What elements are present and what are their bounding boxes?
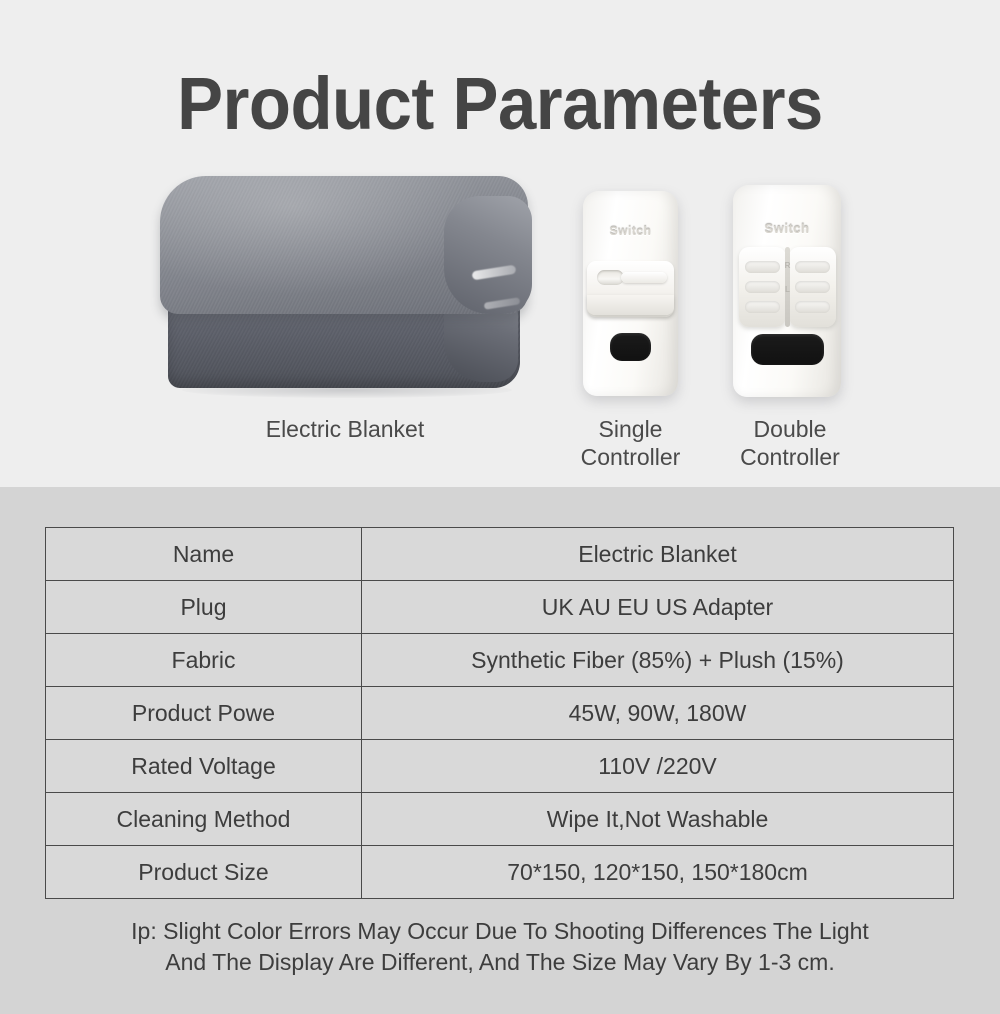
table-row: NameElectric Blanket — [46, 528, 954, 581]
spec-value-cell: Synthetic Fiber (85%) + Plush (15%) — [362, 634, 954, 687]
double-controller-display-window — [751, 334, 824, 365]
table-row: Product Size70*150, 120*150, 150*180cm — [46, 846, 954, 899]
page-title: Product Parameters — [35, 62, 965, 146]
caption-double-controller-line2: Controller — [710, 443, 870, 471]
product-parameters-page: Product Parameters Switch Switch — [0, 0, 1000, 1014]
single-controller-brand-label: Switch — [583, 224, 678, 238]
single-controller-display-window — [610, 333, 651, 361]
single-controller-ledge — [587, 295, 674, 315]
double-controller-right-bar-3 — [795, 301, 830, 313]
spec-label-cell: Cleaning Method — [46, 793, 362, 846]
table-row: Rated Voltage110V /220V — [46, 740, 954, 793]
disclaimer-note: Ip: Slight Color Errors May Occur Due To… — [14, 916, 986, 978]
spec-label-cell: Product Size — [46, 846, 362, 899]
spec-label-cell: Product Powe — [46, 687, 362, 740]
caption-single-controller-line1: Single — [553, 415, 708, 443]
double-controller-left-bar-2 — [745, 281, 780, 293]
double-controller-channel-mark-l: L — [782, 285, 793, 294]
spec-label-cell: Name — [46, 528, 362, 581]
double-controller-image: Switch R L — [733, 185, 841, 397]
spec-label-cell: Rated Voltage — [46, 740, 362, 793]
blanket-upper-fold — [160, 176, 528, 314]
disclaimer-line-1: Ip: Slight Color Errors May Occur Due To… — [14, 916, 986, 947]
spec-label-cell: Fabric — [46, 634, 362, 687]
specification-table-body: NameElectric BlanketPlugUK AU EU US Adap… — [46, 528, 954, 899]
double-controller-left-bar-1 — [745, 261, 780, 273]
table-row: PlugUK AU EU US Adapter — [46, 581, 954, 634]
single-controller-slider-knob — [597, 270, 624, 285]
caption-single-controller-line2: Controller — [553, 443, 708, 471]
hero-section: Product Parameters Switch Switch — [0, 0, 1000, 487]
caption-double-controller-line1: Double — [710, 415, 870, 443]
spec-value-cell: 45W, 90W, 180W — [362, 687, 954, 740]
double-controller-right-bar-2 — [795, 281, 830, 293]
spec-value-cell: 70*150, 120*150, 150*180cm — [362, 846, 954, 899]
spec-value-cell: Wipe It,Not Washable — [362, 793, 954, 846]
double-controller-left-panel — [739, 247, 786, 327]
table-row: FabricSynthetic Fiber (85%) + Plush (15%… — [46, 634, 954, 687]
table-row: Product Powe45W, 90W, 180W — [46, 687, 954, 740]
table-row: Cleaning MethodWipe It,Not Washable — [46, 793, 954, 846]
caption-electric-blanket: Electric Blanket — [160, 415, 530, 443]
disclaimer-line-2: And The Display Are Different, And The S… — [14, 947, 986, 978]
double-controller-left-bar-3 — [745, 301, 780, 313]
double-controller-right-bar-1 — [795, 261, 830, 273]
caption-double-controller: Double Controller — [710, 415, 870, 471]
spec-label-cell: Plug — [46, 581, 362, 634]
caption-single-controller: Single Controller — [553, 415, 708, 471]
double-controller-right-panel — [789, 247, 836, 327]
spec-value-cell: 110V /220V — [362, 740, 954, 793]
double-controller-channel-mark-r: R — [782, 261, 793, 270]
single-controller-slider-track — [621, 272, 667, 283]
single-controller-image: Switch — [583, 191, 678, 396]
spec-value-cell: Electric Blanket — [362, 528, 954, 581]
spec-value-cell: UK AU EU US Adapter — [362, 581, 954, 634]
double-controller-brand-label: Switch — [733, 221, 841, 236]
electric-blanket-image — [160, 176, 530, 400]
specification-table: NameElectric BlanketPlugUK AU EU US Adap… — [45, 527, 954, 899]
